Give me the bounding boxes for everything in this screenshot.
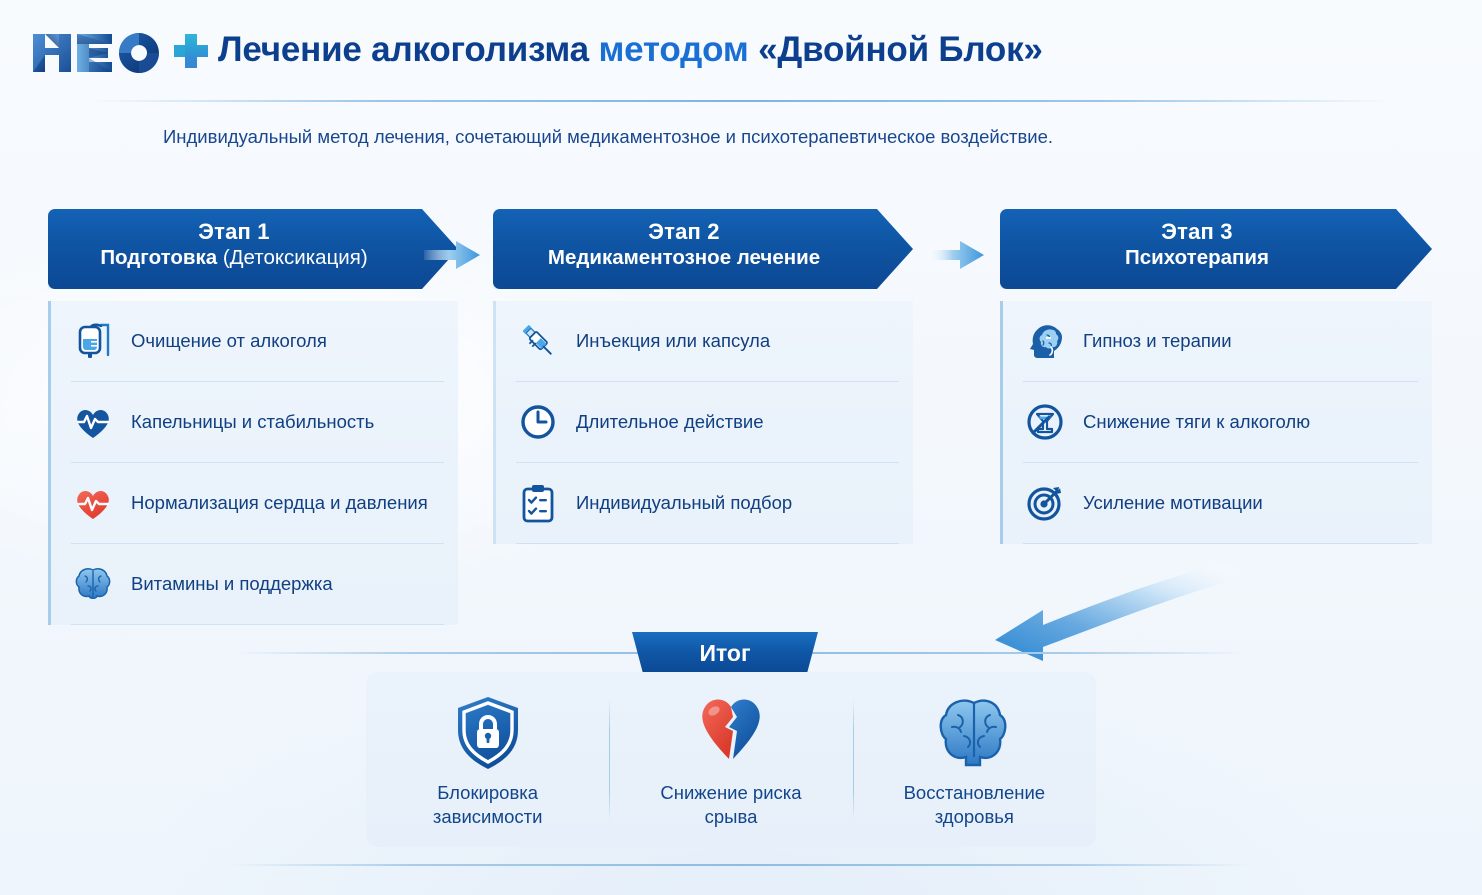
result-box: Блокировказависимости <box>366 672 1096 847</box>
feature-label: Гипноз и терапии <box>1083 330 1232 352</box>
stage-2-number: Этап 2 <box>509 218 859 245</box>
stage-1-header: Этап 1 Подготовка (Детоксикация) <box>48 209 458 289</box>
feature-item[interactable]: Снижение тяги к алкоголю <box>1023 382 1418 463</box>
result-label-line1: Восстановление <box>904 782 1046 803</box>
stage-3-body: Гипноз и терапии Снижение тяги к алкогол… <box>1000 301 1432 544</box>
stage-3-header: Этап 3 Психотерапия <box>1000 209 1432 289</box>
feature-label: Очищение от алкоголя <box>131 330 327 352</box>
brain-icon <box>71 562 115 606</box>
clock-icon <box>516 400 560 444</box>
shield-lock-icon <box>446 691 530 775</box>
clipboard-checklist-icon <box>516 481 560 525</box>
feature-item[interactable]: Очищение от алкоголя <box>71 301 444 382</box>
result-label-line1: Снижение риска <box>660 782 801 803</box>
feature-item[interactable]: Капельницы и стабильность <box>71 382 444 463</box>
feature-label: Снижение тяги к алкоголю <box>1083 411 1310 433</box>
feature-item[interactable]: Нормализация сердца и давления <box>71 463 444 544</box>
syringe-icon <box>516 319 560 363</box>
result-label-line2: здоровья <box>935 806 1014 827</box>
feature-item[interactable]: Усиление мотивации <box>1023 463 1418 544</box>
feature-item[interactable]: Инъекция или капсула <box>516 301 899 382</box>
stage-1-body: Очищение от алкоголя Капельницы и стабил… <box>48 301 458 625</box>
page-subtitle: Индивидуальный метод лечения, сочетающий… <box>163 126 1053 148</box>
stage-card-1: Этап 1 Подготовка (Детоксикация) Очищ <box>48 209 458 625</box>
stage-1-name-light: (Детоксикация) <box>217 246 368 269</box>
heart-pulse-red-icon <box>71 481 115 525</box>
result-label-line1: Блокировка <box>437 782 538 803</box>
result-label-line2: зависимости <box>433 806 543 827</box>
result-item[interactable]: Снижение рискасрыва <box>609 685 852 835</box>
brain-icon <box>932 691 1016 775</box>
broken-heart-icon <box>689 691 773 775</box>
target-arrow-icon <box>1023 481 1067 525</box>
stage-2-header: Этап 2 Медикаментозное лечение <box>493 209 913 289</box>
iv-drip-bag-icon <box>71 319 115 363</box>
stage-2-name-bold: Медикаментозное лечение <box>548 246 820 269</box>
feature-label: Длительное действие <box>576 411 764 433</box>
stage-card-3: Этап 3 Психотерапия Гипноз и терапии <box>1000 209 1432 544</box>
feature-item[interactable]: Длительное действие <box>516 382 899 463</box>
result-banner: Итог <box>632 632 818 674</box>
feature-label: Усиление мотивации <box>1083 492 1263 514</box>
feature-label: Нормализация сердца и давления <box>131 492 428 514</box>
stage-1-number: Этап 1 <box>64 218 404 245</box>
stage-3-name-bold: Психотерапия <box>1125 246 1269 269</box>
feature-label: Витамины и поддержка <box>131 573 333 595</box>
feature-label: Инъекция или капсула <box>576 330 770 352</box>
stage-3-name: Психотерапия <box>1016 245 1378 271</box>
head-brain-icon <box>1023 319 1067 363</box>
stage-2-body: Инъекция или капсула Длительное действие <box>493 301 913 544</box>
result-item[interactable]: Блокировказависимости <box>366 685 609 835</box>
stage-1-name-bold: Подготовка <box>100 246 217 269</box>
curved-arrow-left-icon <box>985 548 1265 666</box>
stage-1-name: Подготовка (Детоксикация) <box>64 245 404 271</box>
heart-pulse-dark-icon <box>71 400 115 444</box>
page-title-part2: методом <box>598 30 758 69</box>
result-label-line2: срыва <box>705 806 758 827</box>
result-label: Снижение рискасрыва <box>660 781 801 829</box>
feature-item[interactable]: Гипноз и терапии <box>1023 301 1418 382</box>
feature-label: Индивидуальный подбор <box>576 492 792 514</box>
feature-label: Капельницы и стабильность <box>131 411 374 433</box>
page-title: Лечение алкоголизма методом «Двойной Бло… <box>218 30 1043 70</box>
page-title-part3: «Двойной Блок» <box>758 30 1043 69</box>
stage-3-number: Этап 3 <box>1016 218 1378 245</box>
page-title-part1: Лечение алкоголизма <box>218 30 598 69</box>
result-label: Блокировказависимости <box>433 781 543 829</box>
stage-card-2: Этап 2 Медикаментозное лечение <box>493 209 913 544</box>
no-alcohol-glass-icon <box>1023 400 1067 444</box>
feature-item[interactable]: Витамины и поддержка <box>71 544 444 625</box>
arrow-right-icon <box>928 240 986 270</box>
infographic-page: Лечение алкоголизма методом «Двойной Бло… <box>0 0 1482 895</box>
page-header: Лечение алкоголизма методом «Двойной Бло… <box>0 0 1482 100</box>
stage-2-name: Медикаментозное лечение <box>509 245 859 271</box>
header-divider <box>90 100 1390 102</box>
feature-item[interactable]: Индивидуальный подбор <box>516 463 899 544</box>
footer-divider <box>230 864 1250 866</box>
arrow-right-icon <box>424 240 482 270</box>
result-item[interactable]: Восстановлениездоровья <box>853 685 1096 835</box>
neo-plus-logo-icon <box>28 28 204 78</box>
result-label: Восстановлениездоровья <box>904 781 1046 829</box>
